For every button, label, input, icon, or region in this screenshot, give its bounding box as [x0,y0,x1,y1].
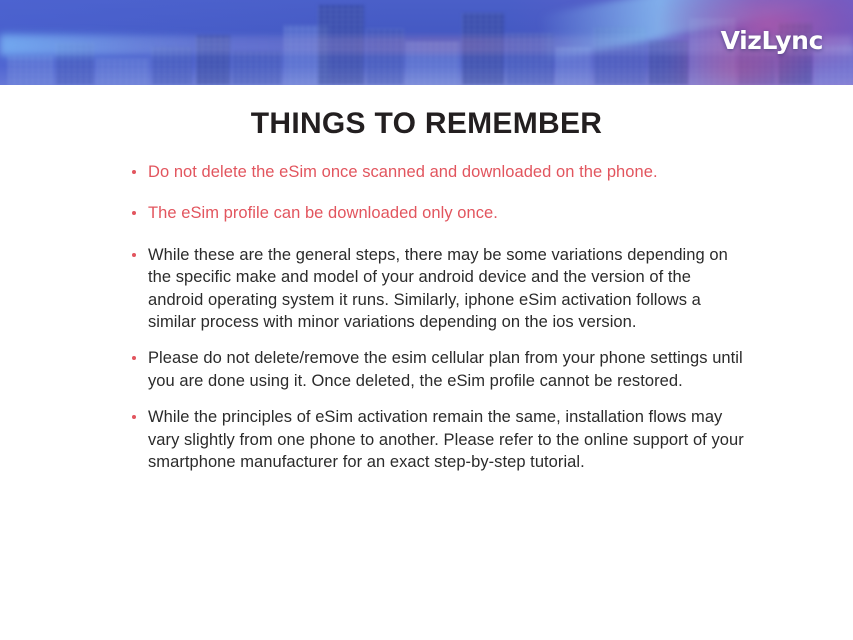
slide: VizLync THINGS TO REMEMBER Do not delete… [0,0,853,640]
list-item: While these are the general steps, there… [131,244,746,334]
vizlync-logo: VizLync [721,28,823,53]
page-title: THINGS TO REMEMBER [0,85,853,141]
list-item: Do not delete the eSim once scanned and … [131,161,746,183]
list-item: Please do not delete/remove the esim cel… [131,347,746,392]
header-banner: VizLync [0,0,853,85]
light-streak-icon [0,34,210,56]
reminders-list: Do not delete the eSim once scanned and … [131,161,746,487]
building-shape [96,59,150,85]
list-item: While the principles of eSim activation … [131,406,746,473]
list-item: The eSim profile can be downloaded only … [131,202,746,224]
building-shape [8,55,54,85]
building-shape [232,51,282,85]
